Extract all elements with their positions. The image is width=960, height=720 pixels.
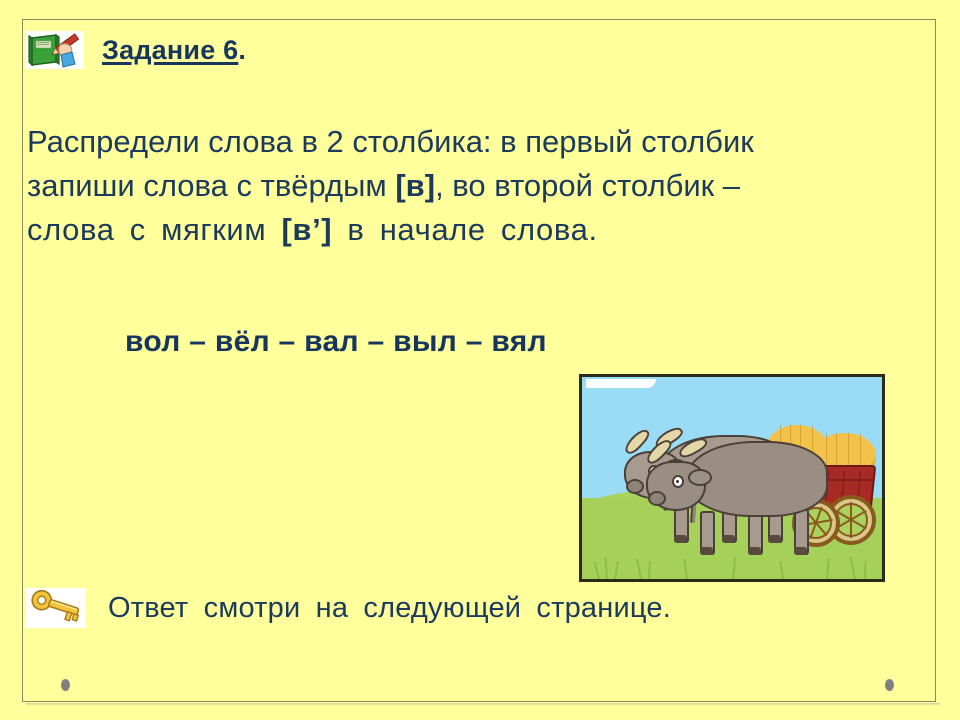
notebook-pencil-icon xyxy=(26,31,84,69)
instruction-line-3-part-1: слова с мягким xyxy=(27,212,281,247)
illustration-cloud xyxy=(586,379,656,388)
page-title-suffix: . xyxy=(238,35,246,65)
instruction-line-3: слова с мягким [в’] в начале слова. xyxy=(27,208,935,252)
answer-hint-text: Ответ смотри на следующей странице. xyxy=(108,592,671,625)
instruction-line-2-part-2: , во второй столбик – xyxy=(435,168,740,203)
page-title: Задание 6. xyxy=(102,35,246,66)
task-header: Задание 6. xyxy=(22,26,246,74)
decorative-dot-left xyxy=(61,679,70,691)
instruction-line-2: запиши слова с твёрдым [в], во второй ст… xyxy=(27,164,935,208)
answer-hint-row: Ответ смотри на следующей странице. xyxy=(22,588,671,628)
illustration-oxen-cart xyxy=(579,374,885,582)
decorative-dot-right xyxy=(885,679,894,691)
instructions-block: Распредели слова в 2 столбика: в первый … xyxy=(27,120,935,252)
golden-key-icon xyxy=(26,588,86,628)
hard-v-phoneme: [в] xyxy=(395,168,435,203)
slide-frame-shadow xyxy=(26,703,940,706)
page-title-underlined: Задание 6 xyxy=(102,35,238,65)
instruction-line-2-part-1: запиши слова с твёрдым xyxy=(27,168,395,203)
word-list: вол – вёл – вал – выл – вял xyxy=(125,325,547,359)
instruction-line-1: Распредели слова в 2 столбика: в первый … xyxy=(27,120,935,164)
slide: Задание 6. Распредели слова в 2 столбика… xyxy=(0,0,960,720)
instruction-line-3-part-2: в начале слова. xyxy=(332,212,597,247)
soft-v-phoneme: [в’] xyxy=(281,212,332,247)
